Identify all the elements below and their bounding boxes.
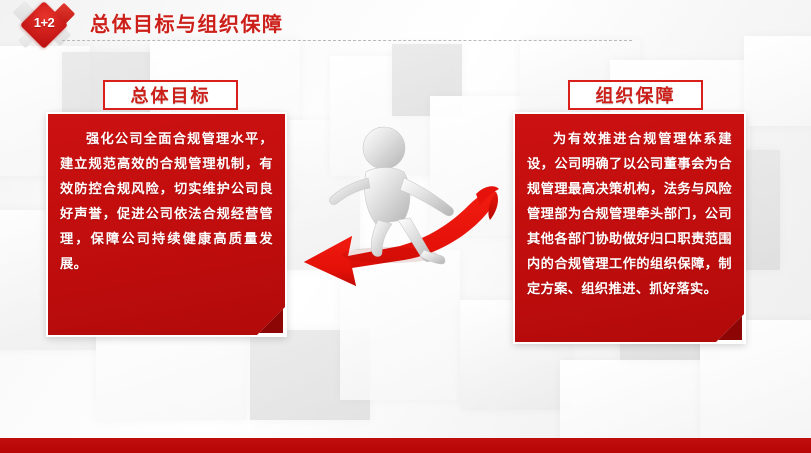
panel-text-overall-goal: 强化公司全面合规管理水平，建立规范高效的合规管理机制，有效防控合规风险，切实维护… bbox=[60, 126, 273, 276]
panel-title-organizational-guarantee: 组织保障 bbox=[568, 80, 703, 110]
page-fold-inner bbox=[718, 316, 742, 340]
panel-title-overall-goal: 总体目标 bbox=[103, 80, 238, 110]
page-fold-inner bbox=[259, 309, 283, 333]
footer-bar bbox=[0, 438, 811, 453]
slide-canvas: 1+2 总体目标与组织保障 bbox=[0, 0, 811, 453]
panel-text-organizational-guarantee: 为有效推进合规管理体系建设，公司明确了以公司董事会为合规管理最高决策机构，法务与… bbox=[527, 126, 732, 301]
page-title: 总体目标与组织保障 bbox=[90, 8, 284, 37]
illustration-svg bbox=[300, 120, 510, 300]
header-divider bbox=[62, 40, 632, 41]
logo-label: 1+2 bbox=[27, 15, 61, 30]
person-riding-red-arrow-illustration bbox=[300, 120, 510, 300]
panel-body-overall-goal: 强化公司全面合规管理水平，建立规范高效的合规管理机制，有效防控合规风险，切实维护… bbox=[46, 112, 287, 337]
slide-header: 1+2 总体目标与组织保障 bbox=[0, 0, 811, 52]
panel-body-organizational-guarantee: 为有效推进合规管理体系建设，公司明确了以公司董事会为合规管理最高决策机构，法务与… bbox=[513, 112, 746, 344]
diamond-logo: 1+2 bbox=[14, 2, 84, 50]
